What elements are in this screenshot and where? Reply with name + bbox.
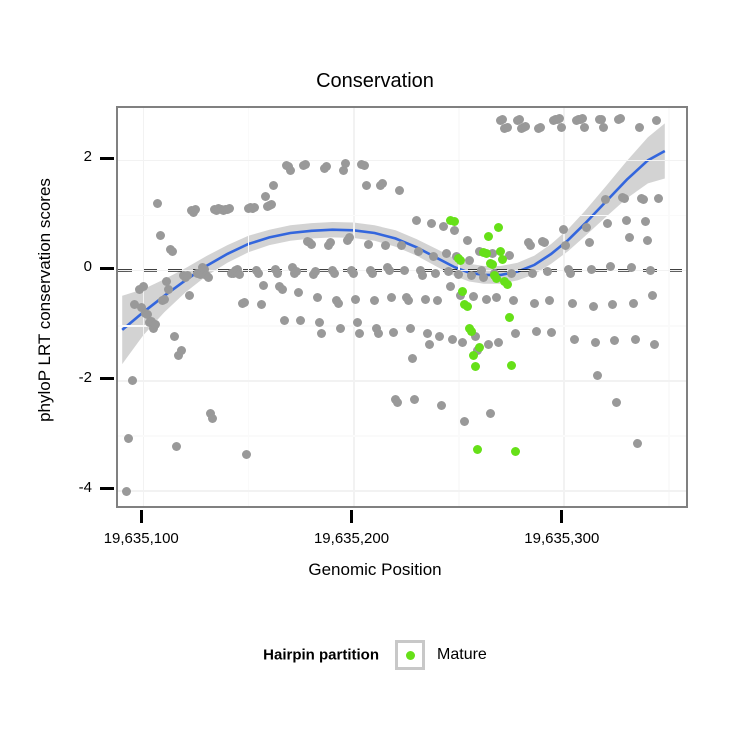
- data-point-other: [168, 247, 177, 256]
- gridline-vertical: [563, 108, 565, 506]
- data-point-other: [494, 338, 503, 347]
- data-point-other: [250, 203, 259, 212]
- trend-overlay: [118, 108, 686, 506]
- data-point-other: [204, 273, 213, 282]
- data-point-other: [507, 269, 516, 278]
- x-axis-label: Genomic Position: [0, 560, 750, 580]
- data-point-other: [160, 295, 169, 304]
- data-point-other: [566, 269, 575, 278]
- data-point-other: [570, 335, 579, 344]
- data-point-other: [307, 240, 316, 249]
- data-point-other: [208, 414, 217, 423]
- gridline-horizontal: [118, 435, 686, 437]
- data-point-other: [185, 291, 194, 300]
- data-point-other: [545, 296, 554, 305]
- data-point-other: [423, 329, 432, 338]
- data-point-other: [267, 200, 276, 209]
- data-point-other: [536, 123, 545, 132]
- data-point-other: [528, 269, 537, 278]
- data-point-other: [273, 269, 282, 278]
- data-point-other: [482, 295, 491, 304]
- data-point-other: [612, 398, 621, 407]
- gridline-horizontal: [118, 215, 686, 217]
- data-point-other: [608, 300, 617, 309]
- data-point-other: [269, 181, 278, 190]
- data-point-mature: [505, 313, 514, 322]
- data-point-other: [591, 338, 600, 347]
- legend-dot-icon: [406, 651, 415, 660]
- data-point-mature: [467, 327, 476, 336]
- data-point-other: [280, 316, 289, 325]
- data-point-other: [465, 256, 474, 265]
- data-point-other: [360, 161, 369, 170]
- data-point-mature: [482, 249, 491, 258]
- y-tick-mark: [100, 487, 114, 490]
- data-point-other: [652, 116, 661, 125]
- data-point-other: [330, 269, 339, 278]
- plot-area: [118, 108, 686, 506]
- data-point-other: [532, 327, 541, 336]
- data-point-other: [650, 340, 659, 349]
- plot-panel: [116, 106, 688, 508]
- data-point-other: [585, 238, 594, 247]
- data-point-other: [631, 335, 640, 344]
- data-point-other: [530, 299, 539, 308]
- data-point-other: [427, 219, 436, 228]
- data-point-other: [448, 335, 457, 344]
- data-point-other: [368, 269, 377, 278]
- data-point-other: [421, 295, 430, 304]
- data-point-other: [349, 269, 358, 278]
- data-point-other: [278, 285, 287, 294]
- data-point-other: [408, 354, 417, 363]
- data-point-other: [606, 262, 615, 271]
- chart-title: Conservation: [0, 70, 750, 93]
- data-point-other: [442, 249, 451, 258]
- data-point-other: [589, 302, 598, 311]
- gridline-horizontal: [118, 325, 686, 327]
- data-point-other: [414, 247, 423, 256]
- data-point-mature: [507, 361, 516, 370]
- data-point-other: [431, 269, 440, 278]
- data-point-other: [124, 434, 133, 443]
- y-tick-label: -2: [46, 369, 92, 386]
- data-point-other: [286, 166, 295, 175]
- data-point-other: [341, 159, 350, 168]
- legend: Hairpin partition Mature: [0, 640, 750, 670]
- data-point-other: [547, 328, 556, 337]
- data-point-other: [404, 296, 413, 305]
- x-tick-label: 19,635,300: [502, 530, 622, 547]
- legend-label-mature: Mature: [437, 646, 487, 663]
- data-point-other: [559, 225, 568, 234]
- data-point-other: [486, 409, 495, 418]
- data-point-other: [351, 295, 360, 304]
- data-point-other: [389, 328, 398, 337]
- data-point-other: [543, 267, 552, 276]
- data-point-other: [458, 338, 467, 347]
- data-point-other: [484, 340, 493, 349]
- data-point-other: [635, 123, 644, 132]
- data-point-other: [616, 114, 625, 123]
- data-point-other: [381, 241, 390, 250]
- data-point-other: [593, 371, 602, 380]
- data-point-other: [627, 263, 636, 272]
- legend-key-mature[interactable]: [395, 640, 425, 670]
- data-point-other: [385, 266, 394, 275]
- data-point-mature: [473, 445, 482, 454]
- data-point-other: [599, 123, 608, 132]
- y-tick-mark: [100, 157, 114, 160]
- data-point-other: [425, 340, 434, 349]
- y-tick-label: -4: [46, 479, 92, 496]
- gridline-vertical: [248, 108, 250, 506]
- x-tick-label: 19,635,200: [292, 530, 412, 547]
- data-point-other: [259, 281, 268, 290]
- gridline-horizontal: [118, 160, 686, 162]
- data-point-other: [177, 346, 186, 355]
- data-point-other: [629, 299, 638, 308]
- data-point-other: [261, 192, 270, 201]
- data-point-other: [479, 273, 488, 282]
- data-point-other: [625, 233, 634, 242]
- gridline-vertical: [668, 108, 670, 506]
- data-point-other: [301, 160, 310, 169]
- data-point-other: [364, 240, 373, 249]
- data-point-other: [362, 181, 371, 190]
- data-point-mature: [503, 280, 512, 289]
- y-tick-mark: [100, 267, 114, 270]
- x-tick-label: 19,635,100: [81, 530, 201, 547]
- data-point-other: [400, 266, 409, 275]
- data-point-other: [646, 266, 655, 275]
- data-point-mature: [484, 232, 493, 241]
- data-point-other: [156, 231, 165, 240]
- data-point-other: [240, 298, 249, 307]
- data-point-other: [503, 123, 512, 132]
- data-point-other: [345, 233, 354, 242]
- data-point-other: [463, 236, 472, 245]
- data-point-mature: [511, 447, 520, 456]
- data-point-other: [557, 123, 566, 132]
- y-tick-label: 2: [46, 148, 92, 165]
- y-tick-label: 0: [46, 258, 92, 275]
- data-point-mature: [463, 302, 472, 311]
- gridline-horizontal: [118, 380, 686, 382]
- gridline-horizontal: [118, 490, 686, 492]
- y-tick-mark: [100, 377, 114, 380]
- data-point-other: [406, 324, 415, 333]
- data-point-other: [257, 300, 266, 309]
- x-tick-mark: [350, 510, 353, 523]
- x-tick-mark: [140, 510, 143, 523]
- data-point-other: [648, 291, 657, 300]
- chart-root: Conservation phyloP LRT conservation sco…: [0, 0, 750, 750]
- data-point-other: [555, 114, 564, 123]
- data-point-other: [296, 316, 305, 325]
- legend-title: Hairpin partition: [263, 647, 379, 664]
- y-axis-label: phyloP LRT conservation scores: [35, 110, 55, 490]
- x-tick-mark: [560, 510, 563, 523]
- data-point-other: [587, 265, 596, 274]
- gridline-vertical: [458, 108, 460, 506]
- data-point-other: [444, 267, 453, 276]
- data-point-other: [568, 299, 577, 308]
- gridline-vertical: [353, 108, 355, 506]
- data-point-other: [526, 241, 535, 250]
